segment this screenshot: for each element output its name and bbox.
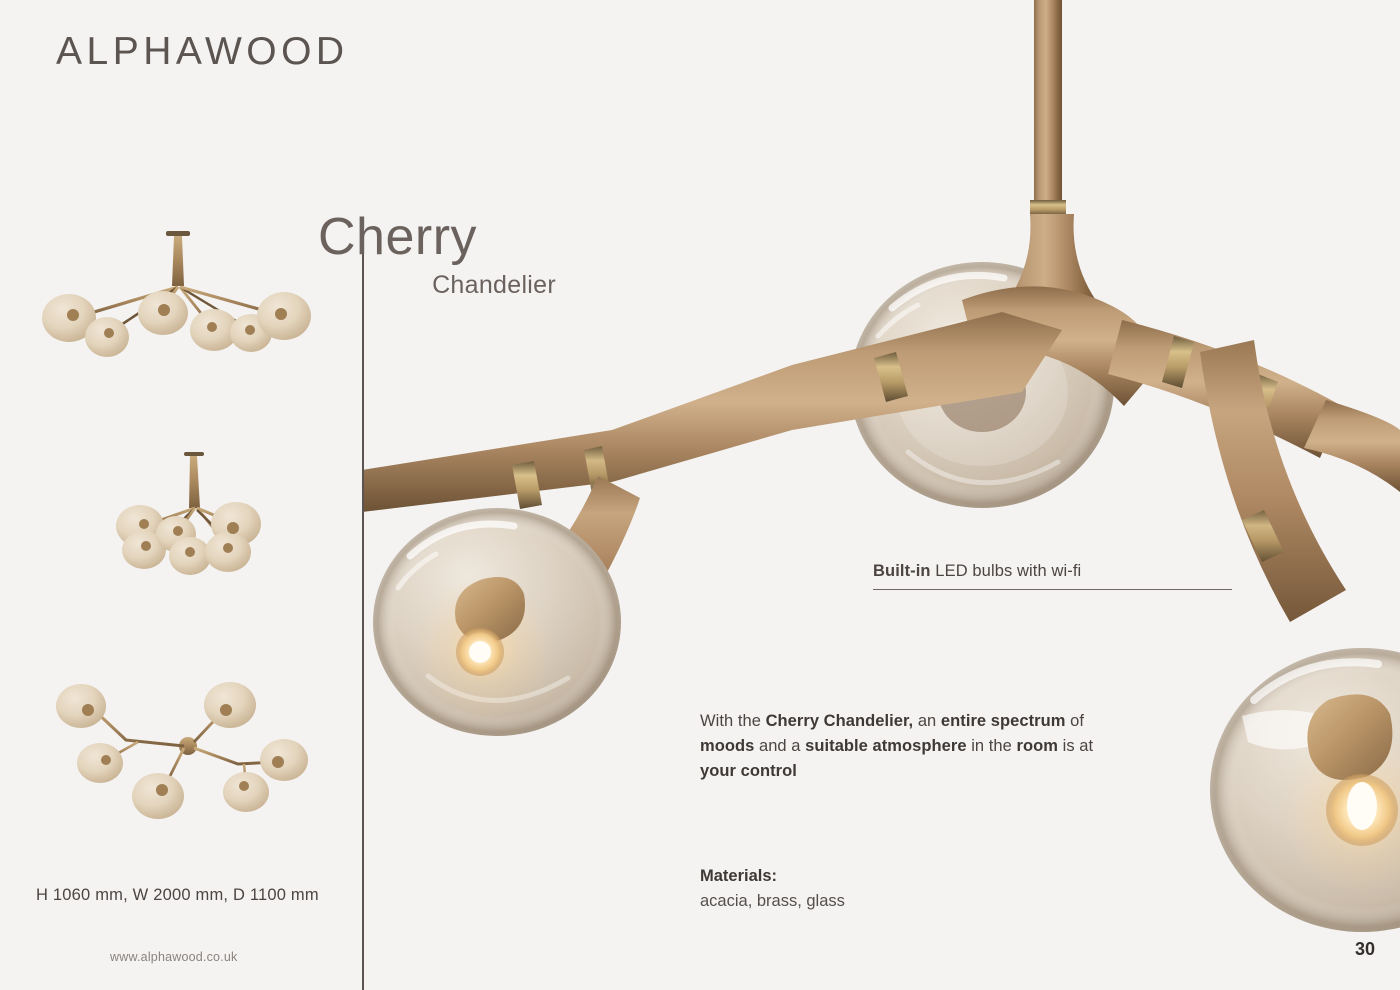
thumbnail-chandelier-top-down-view[interactable]: [48, 668, 308, 828]
product-description: With the Cherry Chandelier, an entire sp…: [700, 709, 1100, 784]
wood-stem-vertical: [1034, 0, 1062, 205]
desc-product-name: Cherry Chandelier,: [766, 712, 914, 730]
desc-highlight-spectrum: entire spectrum: [941, 712, 1066, 730]
materials-heading: Materials:: [700, 864, 1030, 889]
thumbnail-1-illustration: [36, 215, 316, 375]
hero-product-photo: [362, 0, 1400, 990]
desc-highlight-control: your control: [700, 762, 797, 780]
desc-highlight-atmosphere: suitable atmosphere: [805, 737, 966, 755]
hero-illustration: [362, 0, 1400, 990]
vertical-divider: [362, 218, 364, 990]
desc-highlight-room: room: [1017, 737, 1058, 755]
thumbnail-column: H 1060 mm, W 2000 mm, D 1100 mm www.alph…: [0, 0, 362, 990]
feature-callout-rule: [873, 589, 1232, 590]
page-number: 30: [1355, 939, 1375, 960]
desc-highlight-moods: moods: [700, 737, 754, 755]
brass-collar-top: [1030, 200, 1066, 216]
catalog-page: ALPHAWOOD 2020: [0, 0, 1400, 990]
desc-part-4: and a: [754, 737, 805, 755]
desc-part-6: is at: [1058, 737, 1093, 755]
desc-part-2: an: [913, 712, 941, 730]
product-dimensions: H 1060 mm, W 2000 mm, D 1100 mm: [36, 886, 319, 905]
wood-socket-right: [1307, 694, 1392, 780]
feature-callout: Built-in LED bulbs with wi-fi: [873, 562, 1233, 589]
desc-part-1: With the: [700, 712, 766, 730]
thumbnail-chandelier-compact-perspective-view[interactable]: [100, 440, 300, 600]
thumbnail-chandelier-wide-front-view[interactable]: [36, 215, 316, 375]
feature-callout-bold: Built-in: [873, 562, 931, 580]
desc-part-5: in the: [967, 737, 1017, 755]
website-url: www.alphawood.co.uk: [110, 950, 237, 964]
feature-callout-rest: LED bulbs with wi-fi: [931, 562, 1082, 580]
materials-values: acacia, brass, glass: [700, 889, 1030, 914]
desc-part-3: of: [1065, 712, 1084, 730]
glass-globe-lower-left: [373, 508, 621, 736]
thumbnail-3-illustration: [48, 668, 308, 828]
thumbnail-2-illustration: [100, 440, 300, 600]
feature-callout-text: Built-in LED bulbs with wi-fi: [873, 562, 1233, 589]
materials-block: Materials: acacia, brass, glass: [700, 864, 1030, 914]
